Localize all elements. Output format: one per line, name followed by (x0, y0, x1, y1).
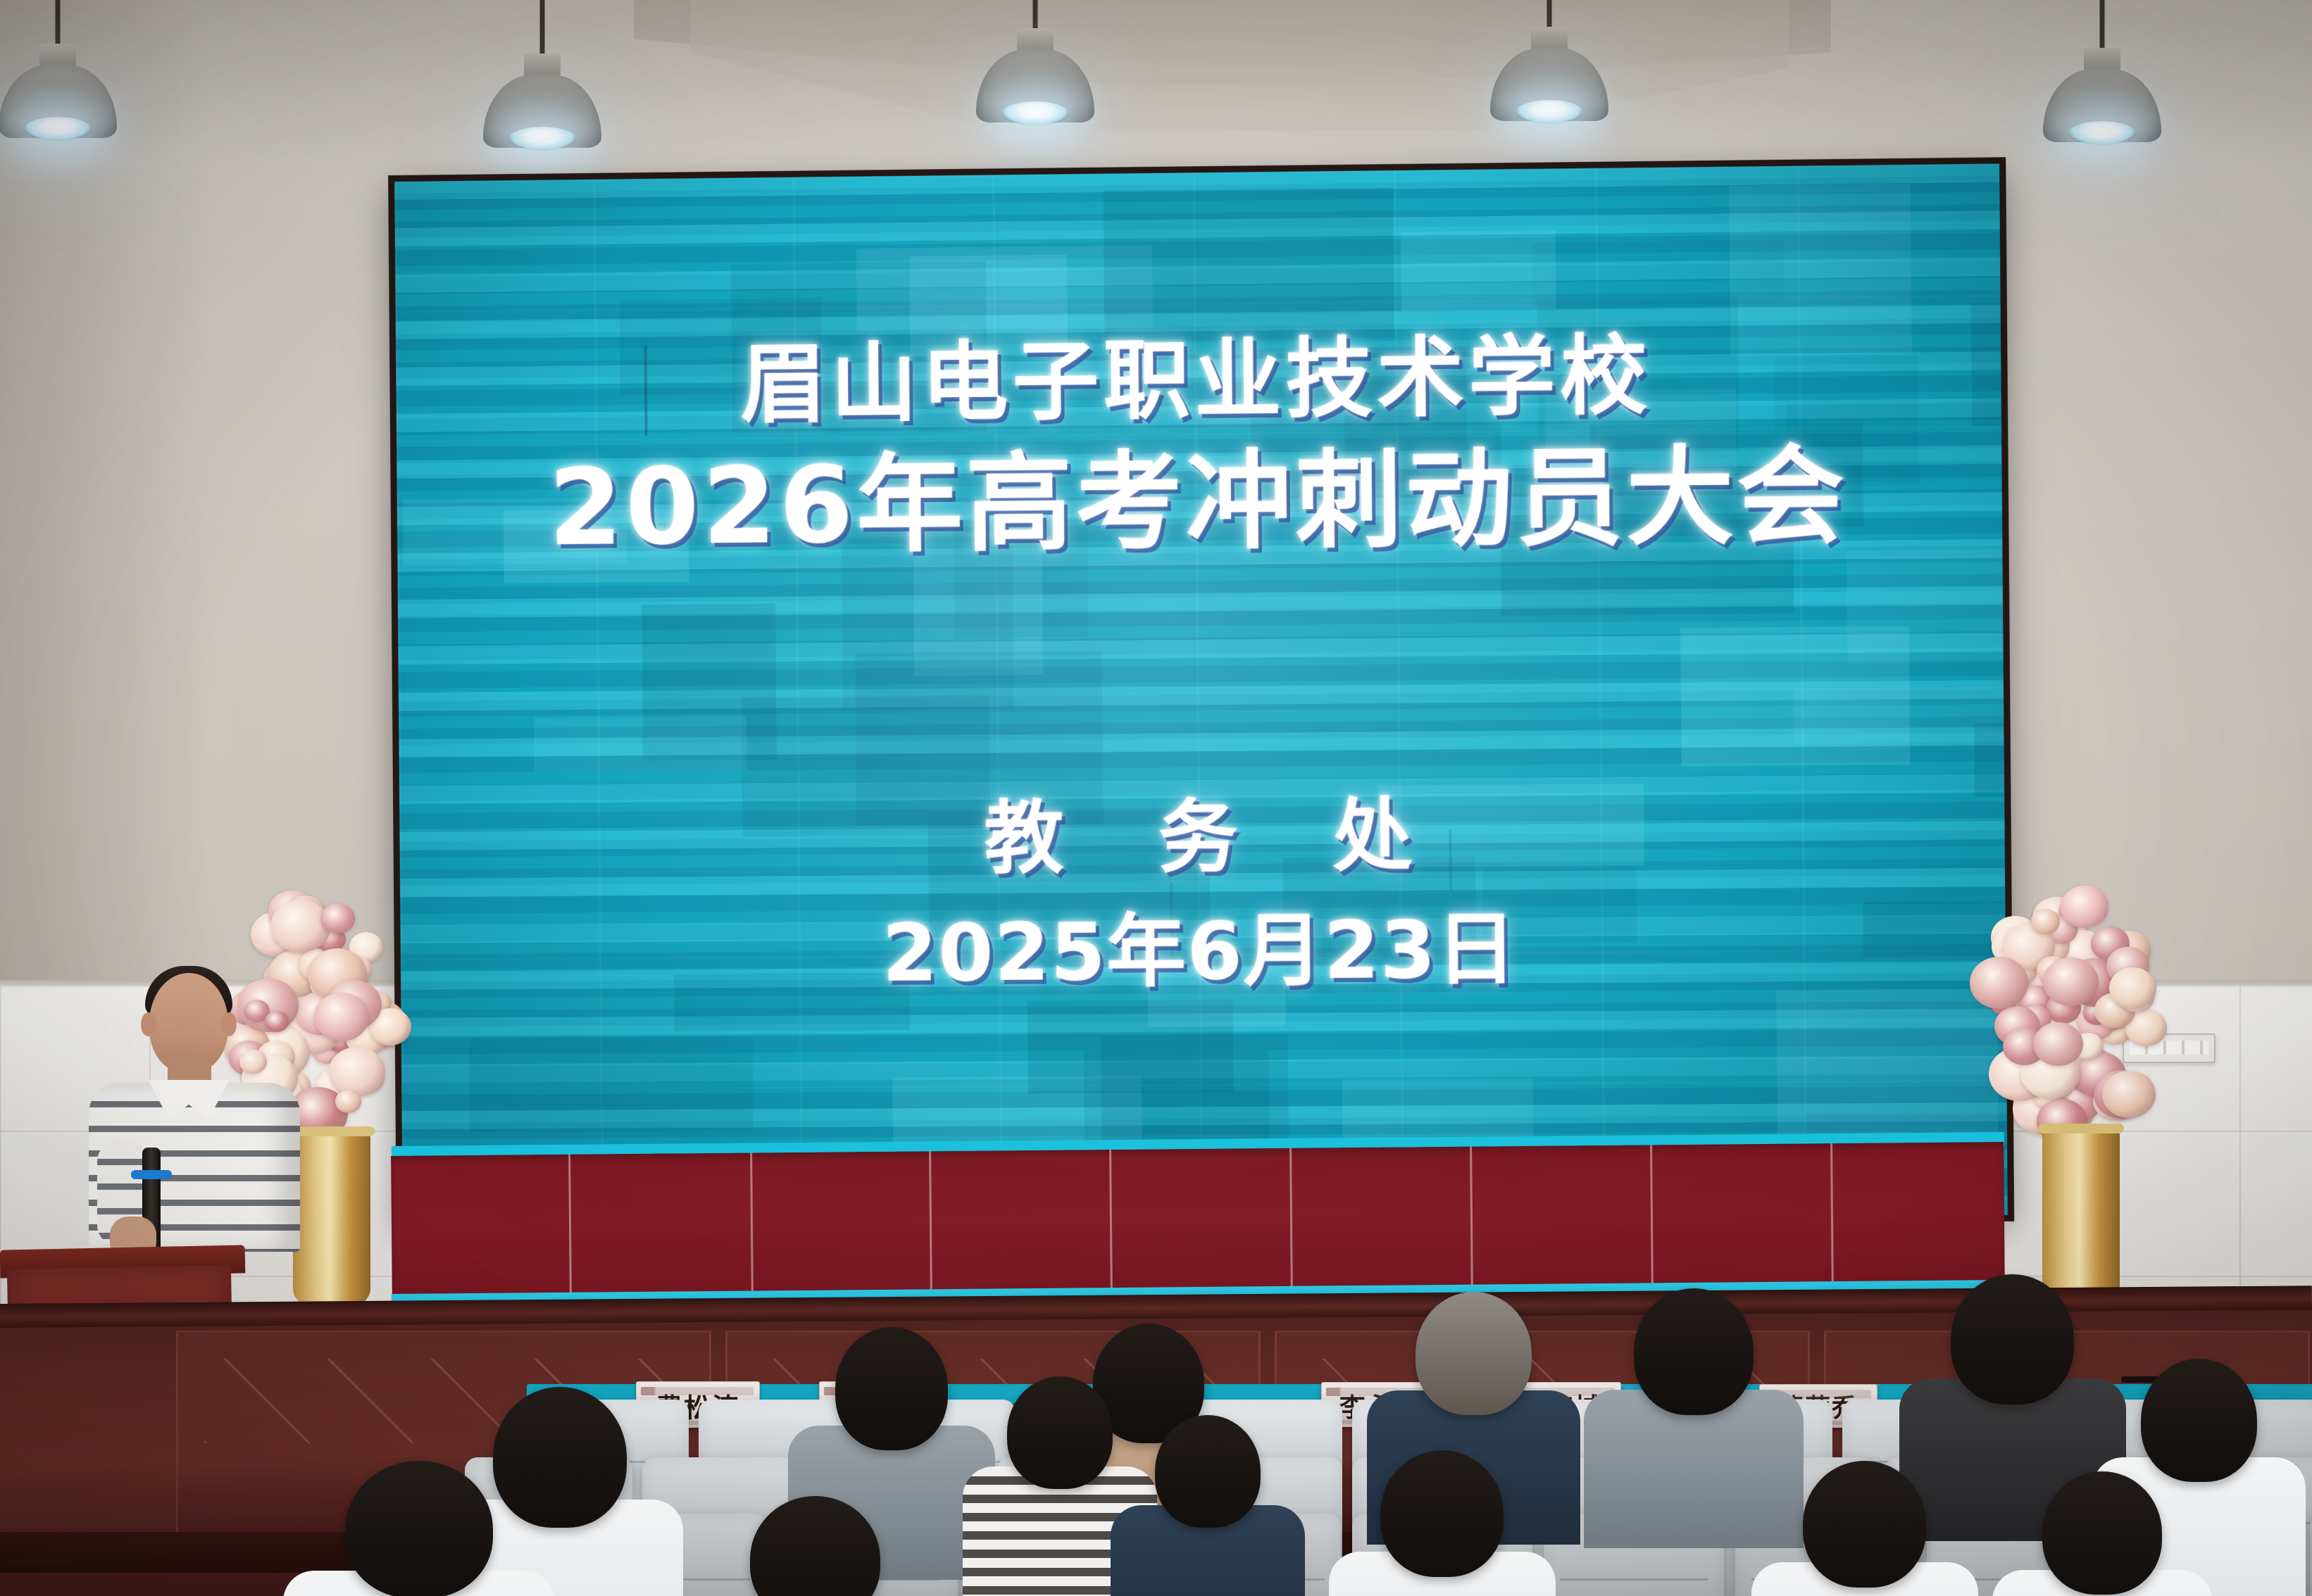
screen-date: 2025年6月23日 (882, 907, 1518, 998)
speaker-ear-left (141, 1012, 156, 1036)
flower-bloom (2033, 1022, 2083, 1066)
light-collar (1017, 28, 1054, 52)
auditorium-photo: 眉山电子职业技术学校 2026年高考冲刺动员大会 教 务 处 2025年6月23… (0, 0, 2312, 1596)
flower-bloom (2109, 967, 2156, 1009)
nameplate-header-logo (641, 1387, 754, 1395)
person-head (2042, 1471, 2162, 1595)
screen-school-name: 眉山电子职业技术学校 (739, 328, 1651, 432)
flower-bloom (2102, 1071, 2156, 1118)
light-bulb (2068, 121, 2136, 145)
ceiling-shadow (0, 0, 2312, 162)
person-head (345, 1461, 493, 1596)
microphone-blue-ring (131, 1170, 172, 1179)
light-cord (1033, 0, 1038, 31)
light-bulb (508, 127, 576, 151)
person-head (1155, 1415, 1261, 1528)
flower-bloom (1970, 957, 2028, 1008)
light-cord (540, 0, 545, 56)
light-collar (1531, 27, 1568, 51)
speaker-ear-right (221, 1012, 237, 1036)
light-collar (2084, 48, 2120, 72)
flower-bloom (2043, 957, 2099, 1007)
speaker-head (149, 973, 228, 1073)
person-head (1007, 1376, 1113, 1489)
person-head (835, 1327, 948, 1450)
screen-lower-red-band (391, 1142, 2005, 1297)
flower-bloom (335, 1090, 361, 1113)
person-head (1803, 1461, 1926, 1588)
screen-department: 教 务 处 (951, 793, 1446, 884)
light-collar (524, 54, 561, 77)
flower-vase-right (2042, 1126, 2120, 1309)
light-cord (56, 0, 61, 46)
person-head (1634, 1288, 1754, 1415)
light-collar (39, 44, 76, 68)
light-cord (1547, 0, 1552, 30)
light-bulb (1001, 101, 1069, 125)
flower-bloom (2031, 909, 2060, 934)
light-bulb (24, 117, 92, 141)
led-display-screen: 眉山电子职业技术学校 2026年高考冲刺动员大会 教 务 处 2025年6月23… (394, 163, 2008, 1222)
screen-text-block: 眉山电子职业技术学校 2026年高考冲刺动员大会 教 务 处 2025年6月23… (394, 163, 2008, 1222)
screen-event-title: 2026年高考冲刺动员大会 (548, 439, 1848, 567)
person-head (1951, 1274, 2074, 1405)
light-cord (2100, 0, 2105, 51)
person-head (1416, 1292, 1532, 1415)
flower-bloom (2061, 886, 2108, 928)
person-head (2141, 1359, 2257, 1482)
light-bulb (1516, 100, 1583, 124)
person-head (1380, 1450, 1504, 1577)
wall-shadow (0, 0, 211, 1056)
flower-vase-rim-right (2038, 1124, 2124, 1133)
person-head (493, 1387, 627, 1528)
